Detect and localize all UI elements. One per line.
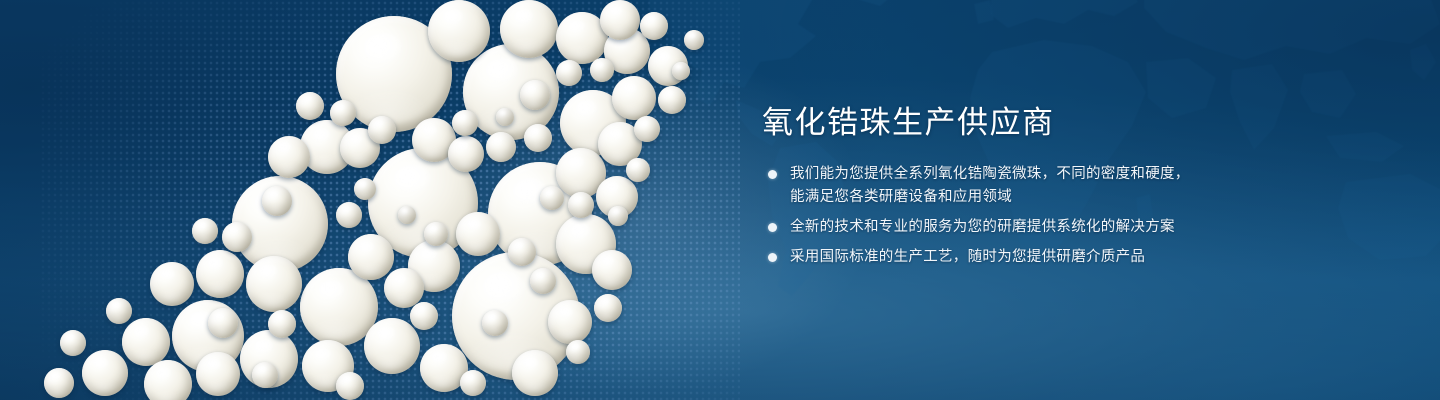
banner-copy: 氧化锆珠生产供应商 我们能为您提供全系列氧化锆陶瓷微珠，不同的密度和硬度， 能满… [762,104,1362,276]
bullet-3-line-1: 采用国际标准的生产工艺，随时为您提供研磨介质产品 [790,249,1145,265]
banner-headline: 氧化锆珠生产供应商 [762,104,1362,141]
bullet-item-3: 采用国际标准的生产工艺，随时为您提供研磨介质产品 [762,246,1362,269]
bullet-dot-icon [768,253,777,262]
bullet-dot-icon [768,223,777,232]
bullet-1-line-2: 能满足您各类研磨设备和应用领域 [790,186,1362,209]
bullet-1-line-1: 我们能为您提供全系列氧化锆陶瓷微珠，不同的密度和硬度， [790,166,1190,182]
zirconia-bead-cluster-image [0,0,760,400]
bullet-2-line-1: 全新的技术和专业的服务为您的研磨提供系统化的解决方案 [790,219,1175,235]
banner-bullet-list: 我们能为您提供全系列氧化锆陶瓷微珠，不同的密度和硬度， 能满足您各类研磨设备和应… [762,163,1362,269]
bullet-item-2: 全新的技术和专业的服务为您的研磨提供系统化的解决方案 [762,216,1362,239]
bullet-item-1: 我们能为您提供全系列氧化锆陶瓷微珠，不同的密度和硬度， 能满足您各类研磨设备和应… [762,163,1362,209]
bullet-dot-icon [768,170,777,179]
hero-banner: 氧化锆珠生产供应商 我们能为您提供全系列氧化锆陶瓷微珠，不同的密度和硬度， 能满… [0,0,1440,400]
